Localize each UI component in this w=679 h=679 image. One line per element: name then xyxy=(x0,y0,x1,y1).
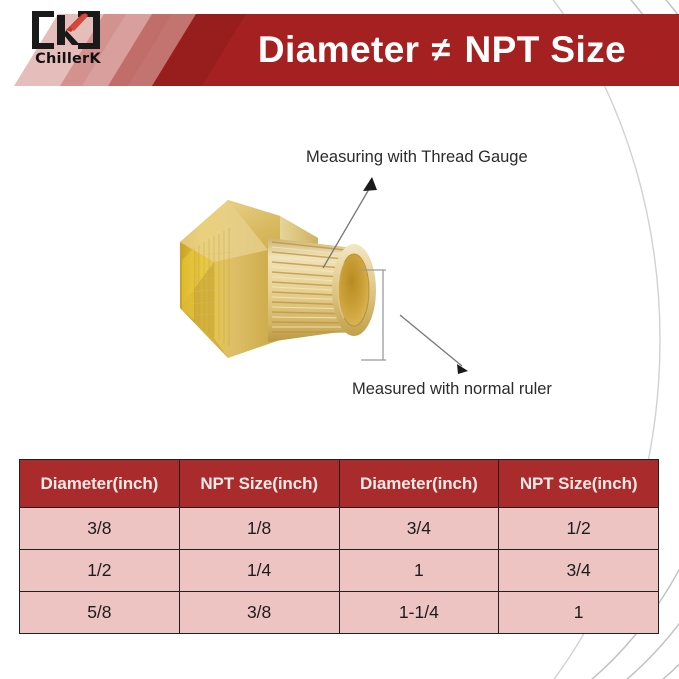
table-header-cell-0: Diameter(inch) xyxy=(20,460,180,508)
title-left-text: Diameter xyxy=(258,29,420,71)
brand-name: ChillerK xyxy=(22,51,114,67)
table-header-cell-3: NPT Size(inch) xyxy=(499,460,659,508)
table-header-row: Diameter(inch) NPT Size(inch) Diameter(i… xyxy=(20,460,659,508)
table-cell: 1/2 xyxy=(499,508,659,550)
table-cell: 5/8 xyxy=(20,592,180,634)
table-cell: 3/8 xyxy=(20,508,180,550)
annotation-normal-ruler: Measured with normal ruler xyxy=(352,380,552,399)
table-row: 3/8 1/8 3/4 1/2 xyxy=(20,508,659,550)
table-cell: 1/4 xyxy=(179,550,339,592)
table-cell: 3/4 xyxy=(499,550,659,592)
title-right-text: NPT Size xyxy=(465,29,627,71)
table-cell: 1-1/4 xyxy=(339,592,499,634)
table-cell: 1 xyxy=(499,592,659,634)
size-conversion-table: Diameter(inch) NPT Size(inch) Diameter(i… xyxy=(19,459,659,634)
bracket-k-logo-icon xyxy=(30,9,102,51)
table-header-cell-2: Diameter(inch) xyxy=(339,460,499,508)
table-row: 1/2 1/4 1 3/4 xyxy=(20,550,659,592)
infographic-canvas: Diameter ≠ NPT Size ChillerK xyxy=(0,0,679,679)
page-title: Diameter ≠ NPT Size xyxy=(205,22,679,78)
table-cell: 1 xyxy=(339,550,499,592)
table: Diameter(inch) NPT Size(inch) Diameter(i… xyxy=(19,459,659,634)
annotation-thread-gauge: Measuring with Thread Gauge xyxy=(306,148,528,167)
arrow-down-right-icon xyxy=(400,315,468,374)
table-cell: 3/4 xyxy=(339,508,499,550)
table-cell: 1/2 xyxy=(20,550,180,592)
brand-logo: ChillerK xyxy=(22,9,114,79)
thread-bore xyxy=(332,244,376,336)
not-equal-icon: ≠ xyxy=(431,31,450,70)
table-cell: 3/8 xyxy=(179,592,339,634)
table-header-cell-1: NPT Size(inch) xyxy=(179,460,339,508)
table-cell: 1/8 xyxy=(179,508,339,550)
table-row: 5/8 3/8 1-1/4 1 xyxy=(20,592,659,634)
brass-fitting-image xyxy=(168,190,408,380)
